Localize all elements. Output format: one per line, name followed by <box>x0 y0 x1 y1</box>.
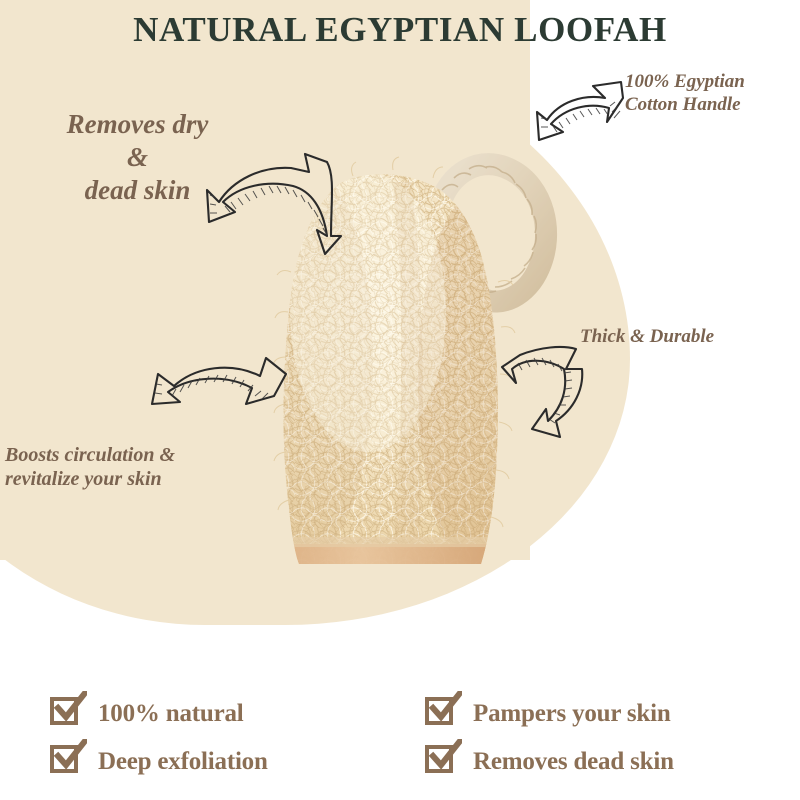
checklist-label: Removes dead skin <box>473 748 674 776</box>
checkmark-icon <box>53 739 87 773</box>
checkbox-checked-icon[interactable] <box>50 697 84 731</box>
checkbox-checked-icon[interactable] <box>425 745 459 779</box>
checklist-column-left: 100% natural Deep exfoliation <box>50 690 268 786</box>
checkmark-icon <box>53 691 87 725</box>
checklist-label: 100% natural <box>98 700 244 728</box>
checkbox-checked-icon[interactable] <box>425 697 459 731</box>
checklist-column-right: Pampers your skin Removes dead skin <box>425 690 674 786</box>
callout-removes-dry-dead-skin: Removes dry & dead skin <box>30 108 245 207</box>
product-infographic: NATURAL EGYPTIAN LOOFAH <box>0 0 800 800</box>
callout-egyptian-cotton-handle: 100% Egyptian Cotton Handle <box>625 70 795 116</box>
checkbox-checked-icon[interactable] <box>50 745 84 779</box>
page-title: NATURAL EGYPTIAN LOOFAH <box>0 10 800 50</box>
arrow-egyptian-cotton-handle <box>535 78 630 158</box>
arrow-thick-and-durable <box>500 345 610 445</box>
callout-thick-and-durable: Thick & Durable <box>580 325 780 348</box>
checkmark-icon <box>428 739 462 773</box>
checklist-item[interactable]: Pampers your skin <box>425 690 674 738</box>
checkmark-icon <box>428 691 462 725</box>
arrow-boosts-circulation <box>140 352 290 452</box>
feature-checklist: 100% natural Deep exfoliation <box>0 690 800 800</box>
checklist-item[interactable]: Removes dead skin <box>425 738 674 786</box>
checklist-item[interactable]: Deep exfoliation <box>50 738 268 786</box>
checklist-label: Deep exfoliation <box>98 748 268 776</box>
callout-boosts-circulation: Boosts circulation & revitalize your ski… <box>5 443 250 492</box>
checklist-item[interactable]: 100% natural <box>50 690 268 738</box>
checklist-label: Pampers your skin <box>473 700 671 728</box>
